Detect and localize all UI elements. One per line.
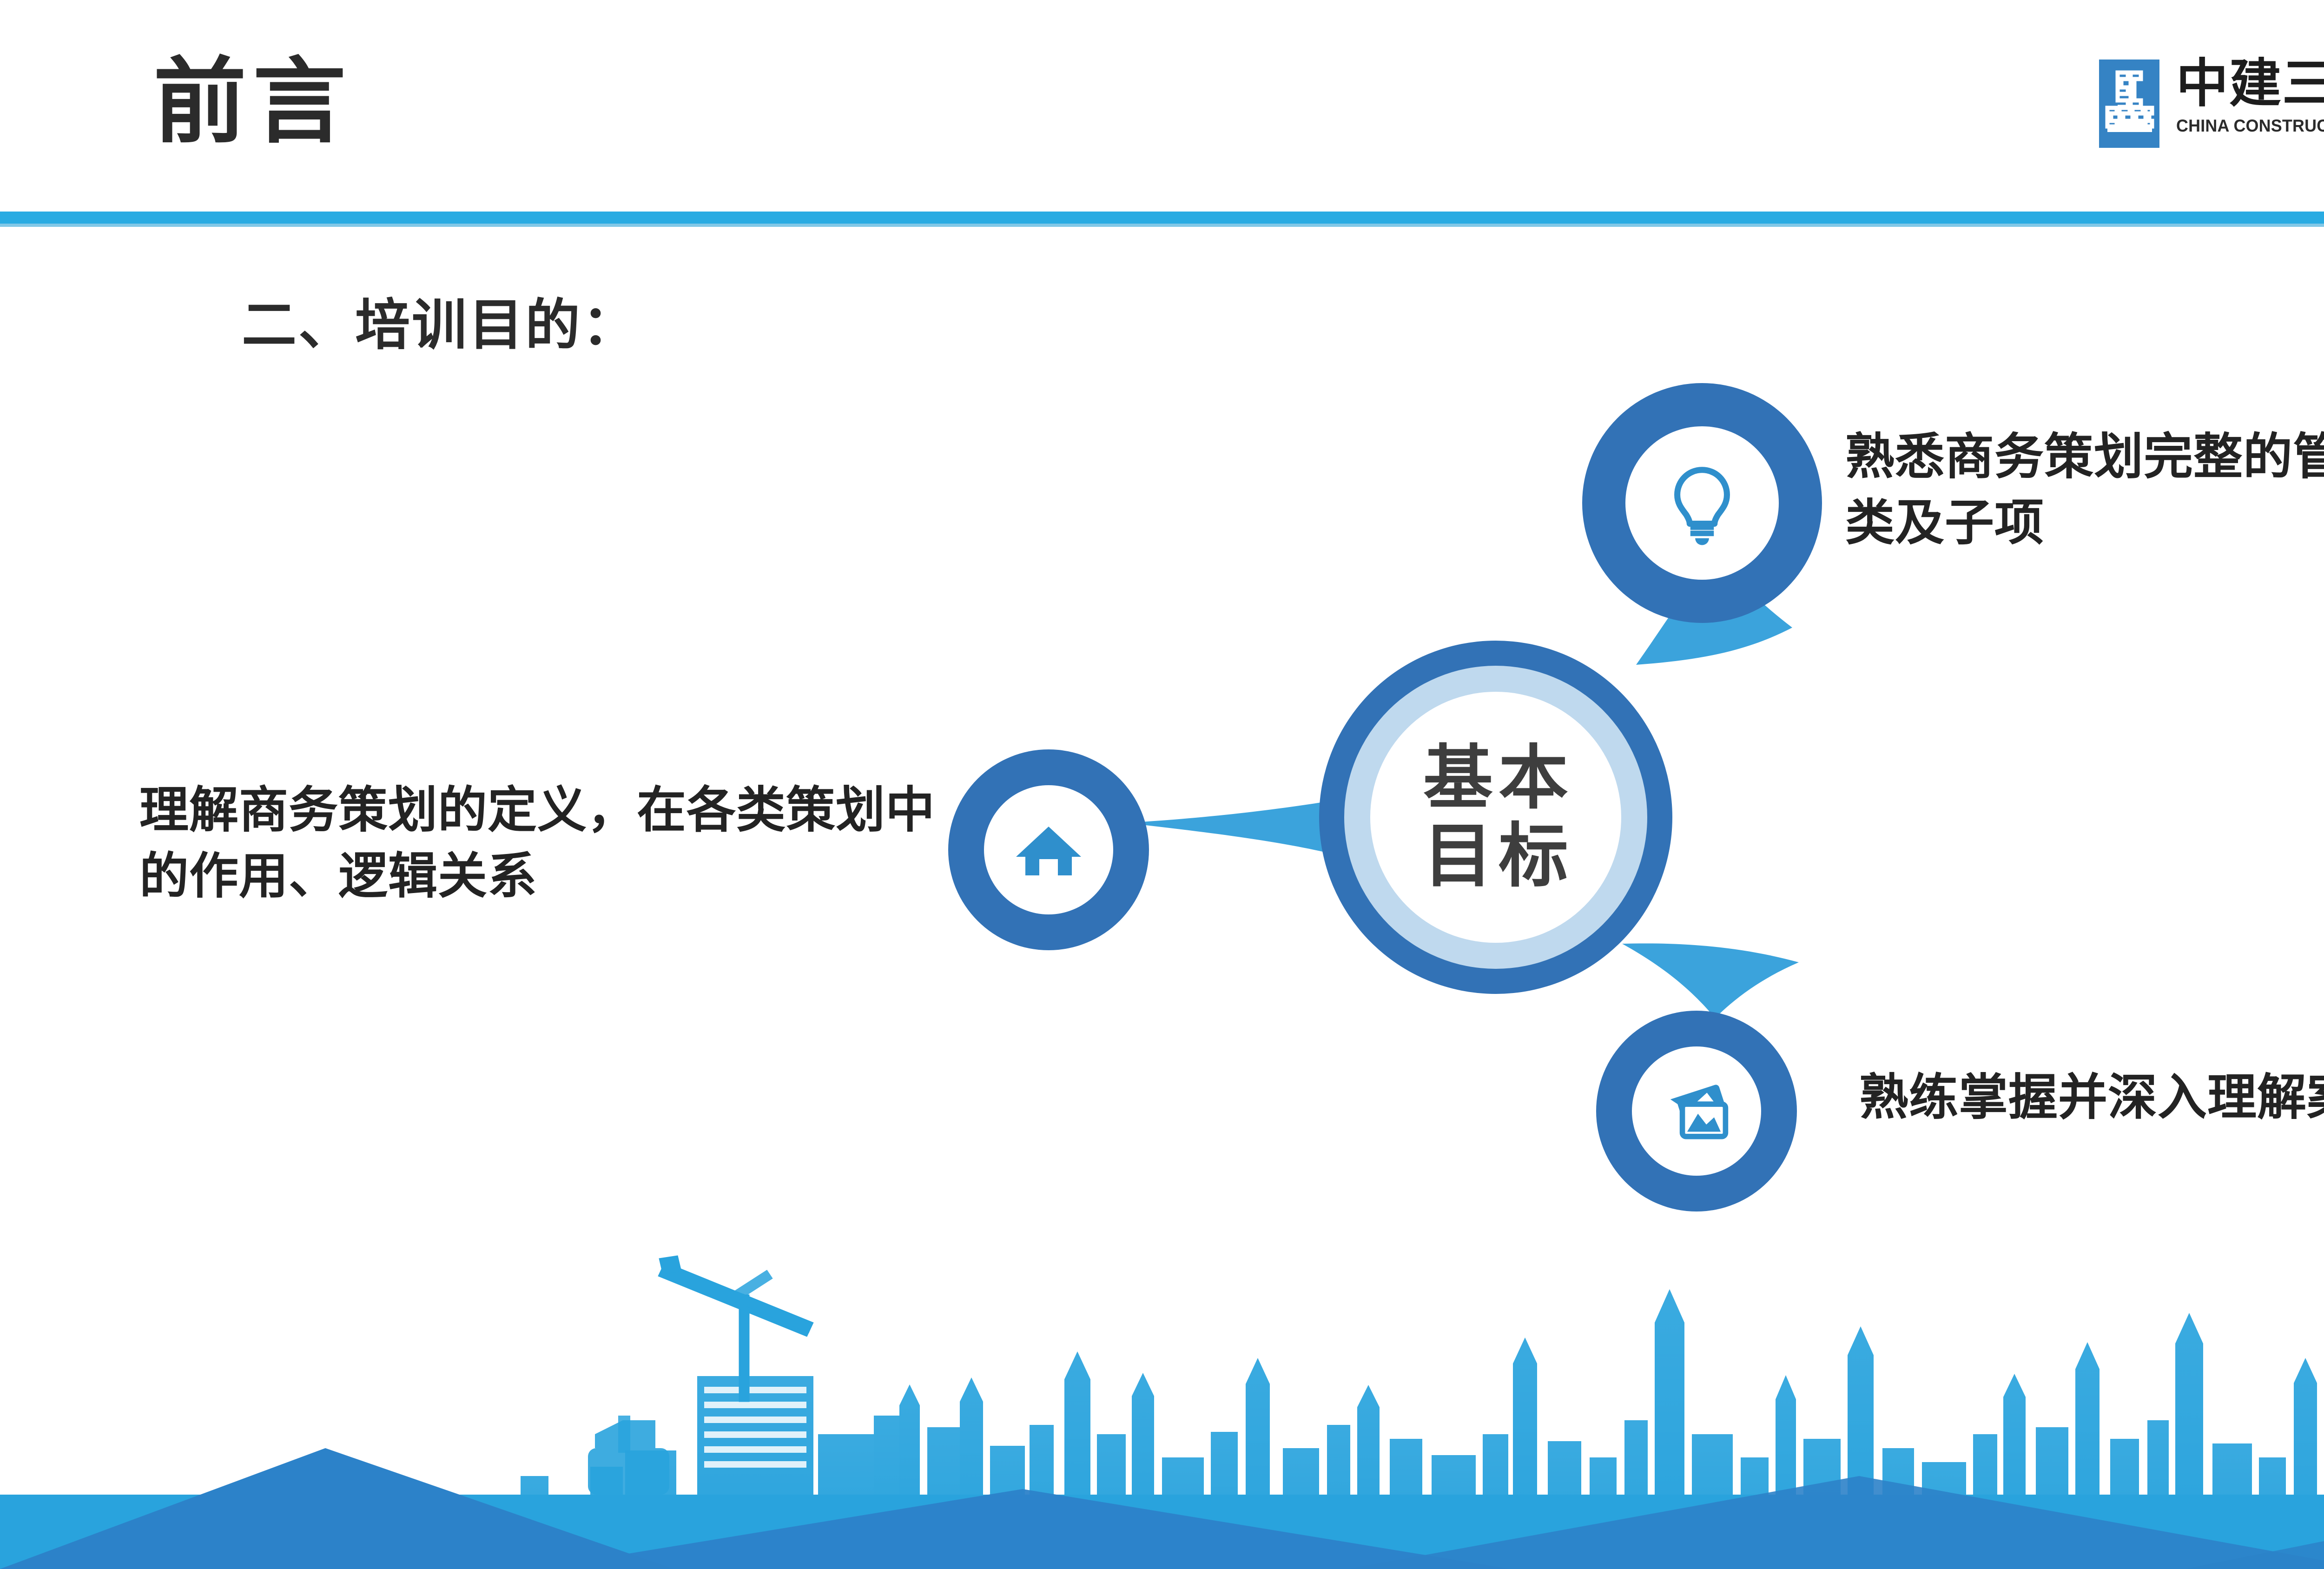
diagram-center-node[interactable]: 基本 目标 <box>1319 641 1672 994</box>
slide-root: 前言 <box>0 0 2324 1569</box>
company-name-en: CHINA CONSTRUCTION THIRD ENGINEERING BUR… <box>2176 117 2324 136</box>
diagram-node-home[interactable] <box>948 749 1149 950</box>
idea-node-core <box>1625 426 1779 580</box>
center-label-line2: 目标 <box>1418 821 1574 891</box>
diagram-node-idea[interactable] <box>1582 383 1822 623</box>
lightbulb-icon <box>1658 459 1746 547</box>
photo-node-core <box>1632 1046 1761 1176</box>
center-core: 基本 目标 <box>1370 692 1621 943</box>
callout-home: 理解商务策划的定义，在各类策划中的作用、逻辑关系 <box>139 777 957 909</box>
section-heading: 二、培训目的： <box>242 298 639 352</box>
center-inner-ring: 基本 目标 <box>1344 666 1647 969</box>
photos-icon <box>1658 1073 1735 1150</box>
slide-header: 前言 <box>0 0 2324 215</box>
cscec-logo-icon <box>2099 60 2159 148</box>
page-title: 前言 <box>153 56 352 149</box>
home-node-core <box>984 785 1113 914</box>
company-name-cn: 中建三局集团有限公司 <box>2176 56 2324 112</box>
callout-idea: 熟悉商务策划完整的管理流程、策划分类及子项 <box>1845 424 2324 556</box>
header-divider <box>0 212 2324 224</box>
callout-photo: 熟练掌握并深入理解案例 <box>1859 1065 2324 1131</box>
header-divider-shadow <box>0 224 2324 227</box>
home-icon <box>1011 813 1086 887</box>
logo-text-block: 中建三局集团有限公司 CHINA CONSTRUCTION THIRD ENGI… <box>2176 56 2324 136</box>
diagram-node-photo[interactable] <box>1596 1011 1797 1212</box>
center-label-line1: 基本 <box>1418 743 1574 813</box>
company-logo: 中建三局集团有限公司 CHINA CONSTRUCTION THIRD ENGI… <box>2099 56 2324 148</box>
city-skyline-graphic <box>0 1216 2324 1569</box>
